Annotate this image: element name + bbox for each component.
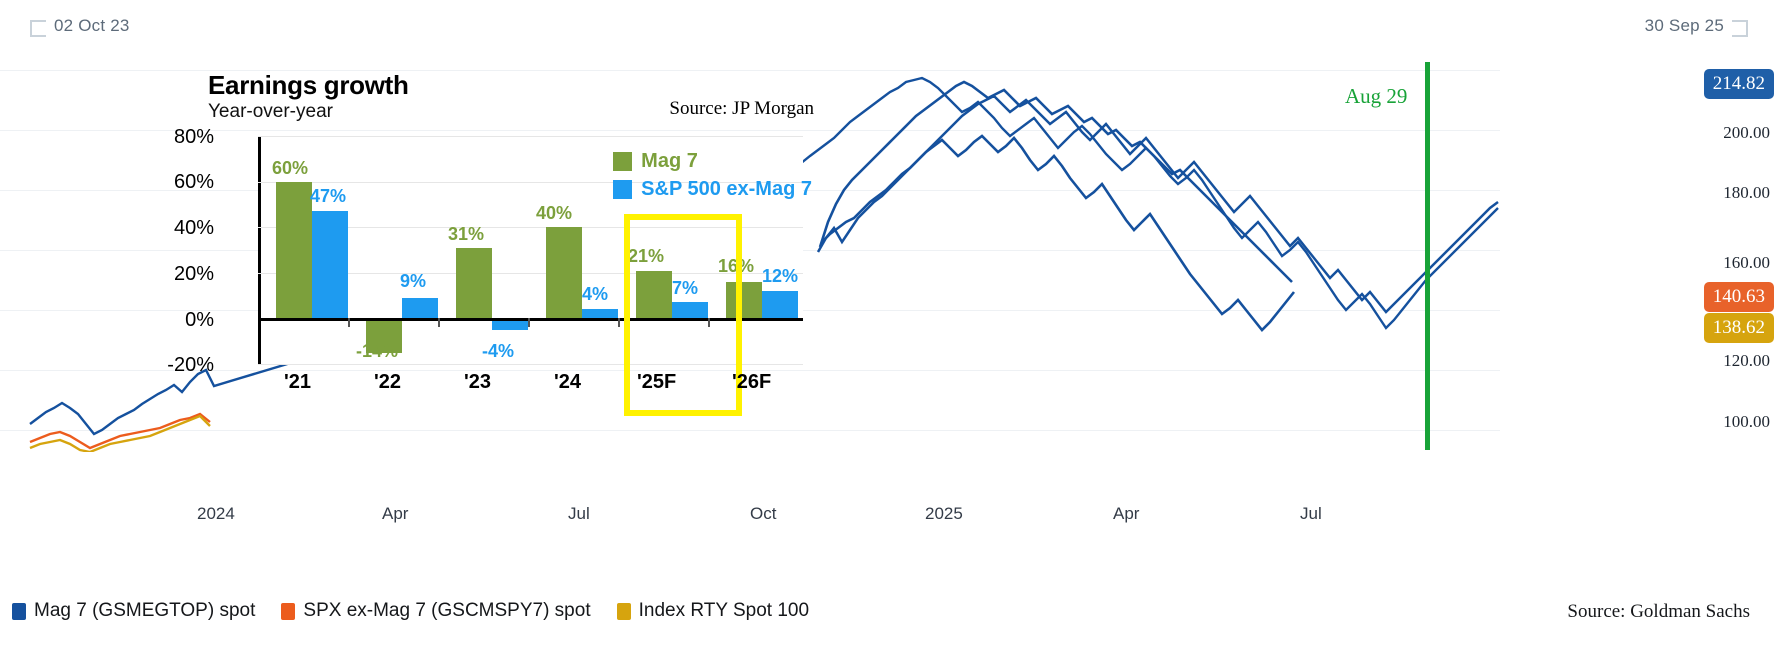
- bar-value-label: 40%: [536, 203, 572, 224]
- legend-label: SPX ex-Mag 7 (GSCMSPY7) spot: [303, 600, 590, 622]
- y-tick: 100.00: [1723, 412, 1770, 432]
- price-chart-source: Source: Goldman Sachs: [1567, 601, 1750, 623]
- inset-x-label: '25F: [637, 371, 676, 394]
- range-start-date: 02 Oct 23: [54, 16, 130, 36]
- range-start-tick-icon: [30, 20, 46, 37]
- bar-value-label: 4%: [582, 284, 608, 305]
- legend-swatch-spx-exmag7-icon: [281, 603, 295, 620]
- bar-value-label: 60%: [272, 158, 308, 179]
- bar-value-label: 12%: [762, 266, 798, 287]
- inset-axis-tick: [348, 318, 350, 327]
- range-end-tick-icon: [1732, 20, 1748, 37]
- spx-exmag7-price-badge: 140.63: [1704, 282, 1774, 312]
- bar-value-label: -4%: [482, 341, 514, 362]
- inset-y-tick: 60%: [174, 171, 214, 194]
- bar-value-label: 47%: [310, 186, 346, 207]
- inset-legend-label: Mag 7: [641, 150, 698, 173]
- legend-item-spx-exmag7[interactable]: SPX ex-Mag 7 (GSCMSPY7) spot: [281, 600, 590, 622]
- inset-legend: Mag 7 S&P 500 ex-Mag 7: [613, 150, 812, 206]
- x-tick: Oct: [750, 504, 776, 524]
- bar-value-label: -14%: [356, 341, 398, 362]
- price-y-axis: 220.00 200.00 180.00 160.00 120.00 100.0…: [1670, 52, 1778, 504]
- y-tick: 160.00: [1723, 253, 1770, 273]
- legend-swatch-mag7-icon: [12, 603, 26, 620]
- event-marker-line: [1425, 62, 1430, 450]
- bar-spx[interactable]: [582, 309, 618, 318]
- inset-x-label: '26F: [732, 371, 771, 394]
- bar-mag7[interactable]: [546, 227, 582, 318]
- price-chart-legend: Mag 7 (GSMEGTOP) spot SPX ex-Mag 7 (GSCM…: [12, 600, 809, 622]
- x-tick: Jul: [568, 504, 590, 524]
- bar-spx[interactable]: [402, 298, 438, 319]
- inset-legend-item-mag7[interactable]: Mag 7: [613, 150, 812, 173]
- legend-label: Mag 7 (GSMEGTOP) spot: [34, 600, 255, 622]
- inset-subtitle: Year-over-year: [208, 101, 333, 123]
- inset-x-label: '22: [374, 371, 401, 394]
- x-tick: 2024: [197, 504, 235, 524]
- inset-y-axis-line: [258, 136, 261, 364]
- bar-mag7[interactable]: [456, 248, 492, 319]
- inset-x-label: '21: [284, 371, 311, 394]
- bar-spx[interactable]: [492, 321, 528, 330]
- bar-value-label: 31%: [448, 224, 484, 245]
- event-marker-label: Aug 29: [1345, 84, 1407, 109]
- inset-axis-tick: [618, 318, 620, 327]
- inset-source: Source: JP Morgan: [669, 98, 814, 120]
- inset-x-label: '23: [464, 371, 491, 394]
- inset-legend-swatch-spx-icon: [613, 180, 632, 199]
- bar-spx[interactable]: [312, 211, 348, 318]
- legend-label: Index RTY Spot 100: [639, 600, 809, 622]
- y-tick: 120.00: [1723, 351, 1770, 371]
- inset-y-tick: 80%: [174, 126, 214, 149]
- earnings-growth-inset: Earnings growth Year-over-year Source: J…: [200, 66, 820, 396]
- legend-swatch-rty-icon: [617, 603, 631, 620]
- mag7-price-badge: 214.82: [1704, 69, 1774, 99]
- inset-y-tick: -20%: [167, 354, 214, 377]
- range-end-date: 30 Sep 25: [1645, 16, 1724, 36]
- price-x-axis: 2024 Apr Jul Oct 2025 Apr Jul: [0, 504, 1778, 544]
- x-tick: Apr: [1113, 504, 1139, 524]
- mag7-series-path: [818, 96, 1498, 312]
- bar-mag7[interactable]: [276, 182, 312, 319]
- inset-gridline: [258, 136, 803, 137]
- inset-legend-label: S&P 500 ex-Mag 7: [641, 178, 812, 201]
- inset-y-tick: 20%: [174, 263, 214, 286]
- y-tick: 180.00: [1723, 183, 1770, 203]
- inset-axis-tick: [528, 318, 530, 327]
- x-tick: 2025: [925, 504, 963, 524]
- legend-item-mag7[interactable]: Mag 7 (GSMEGTOP) spot: [12, 600, 255, 622]
- inset-title: Earnings growth: [208, 70, 409, 101]
- inset-legend-item-spx[interactable]: S&P 500 ex-Mag 7: [613, 178, 812, 201]
- legend-item-rty[interactable]: Index RTY Spot 100: [617, 600, 809, 622]
- inset-y-tick: 40%: [174, 217, 214, 240]
- bar-value-label: 9%: [400, 271, 426, 292]
- x-tick: Jul: [1300, 504, 1322, 524]
- x-tick: Apr: [382, 504, 408, 524]
- inset-y-tick: 0%: [185, 309, 214, 332]
- inset-axis-tick: [438, 318, 440, 327]
- rty-price-badge: 138.62: [1704, 313, 1774, 343]
- inset-legend-swatch-mag7-icon: [613, 152, 632, 171]
- y-tick: 200.00: [1723, 123, 1770, 143]
- bar-spx[interactable]: [762, 291, 798, 318]
- date-range-rail: 02 Oct 23 30 Sep 25: [0, 0, 1778, 52]
- inset-x-label: '24: [554, 371, 581, 394]
